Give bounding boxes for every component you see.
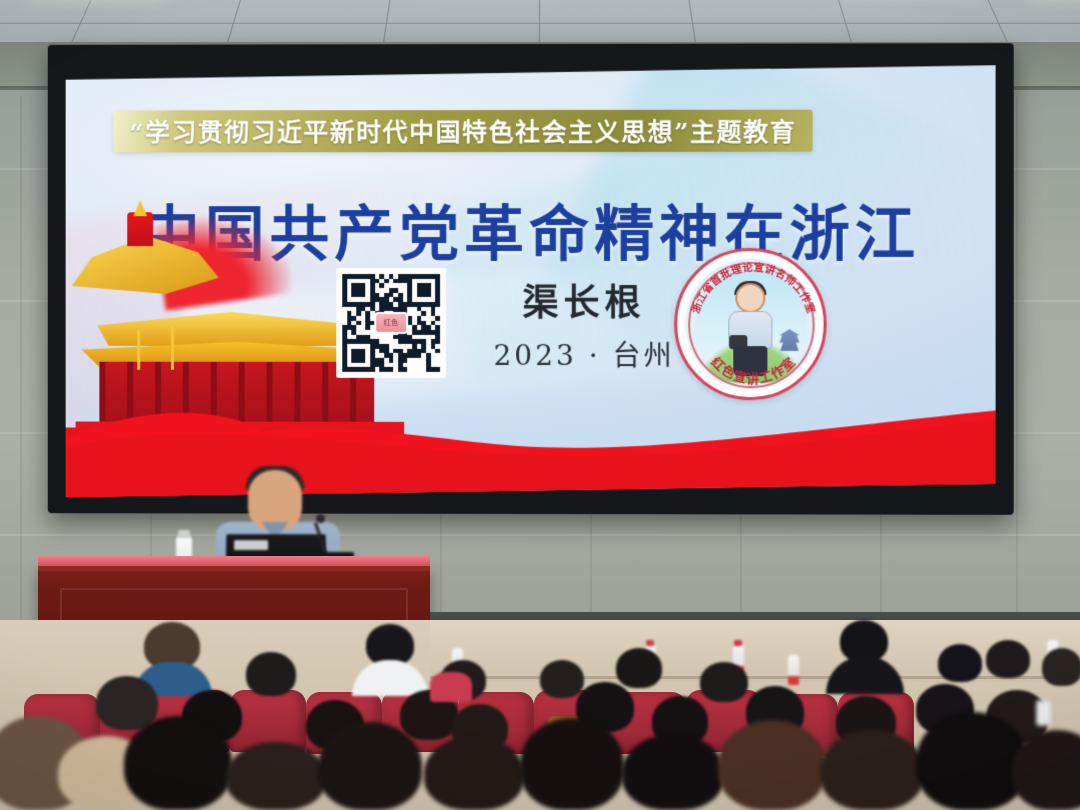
smartphone — [1036, 700, 1052, 726]
desk-ledge — [430, 620, 1080, 682]
photo-scene: “学习贯彻习近平新时代中国特色社会主义思想”主题教育 中国共产党革命精神在浙江 — [0, 0, 1080, 810]
bottle-cap — [646, 640, 654, 646]
qr-center-logo: 红色 — [374, 312, 408, 334]
bottle-cap — [178, 530, 190, 538]
red-ribbon-wave — [66, 348, 996, 499]
ornamental-pavilion — [72, 210, 219, 328]
slide-banner: “学习贯彻习近平新时代中国特色社会主义思想”主题教育 — [113, 110, 812, 153]
ledge-edge — [430, 676, 1080, 679]
microphone-head — [316, 514, 325, 523]
presenter-head — [248, 470, 302, 530]
slide-banner-text: “学习贯彻习近平新时代中国特色社会主义思想”主题教育 — [129, 113, 796, 150]
speaker-name: 渠长根 — [484, 274, 684, 326]
water-bottle — [788, 655, 799, 685]
led-screen-bezel: “学习贯彻习近平新时代中国特色社会主义思想”主题教育 中国共产党革命精神在浙江 — [48, 43, 1014, 515]
bottle-cap — [734, 640, 742, 646]
presentation-slide: “学习贯彻习近平新时代中国特色社会主义思想”主题教育 中国共产党革命精神在浙江 — [66, 65, 996, 499]
